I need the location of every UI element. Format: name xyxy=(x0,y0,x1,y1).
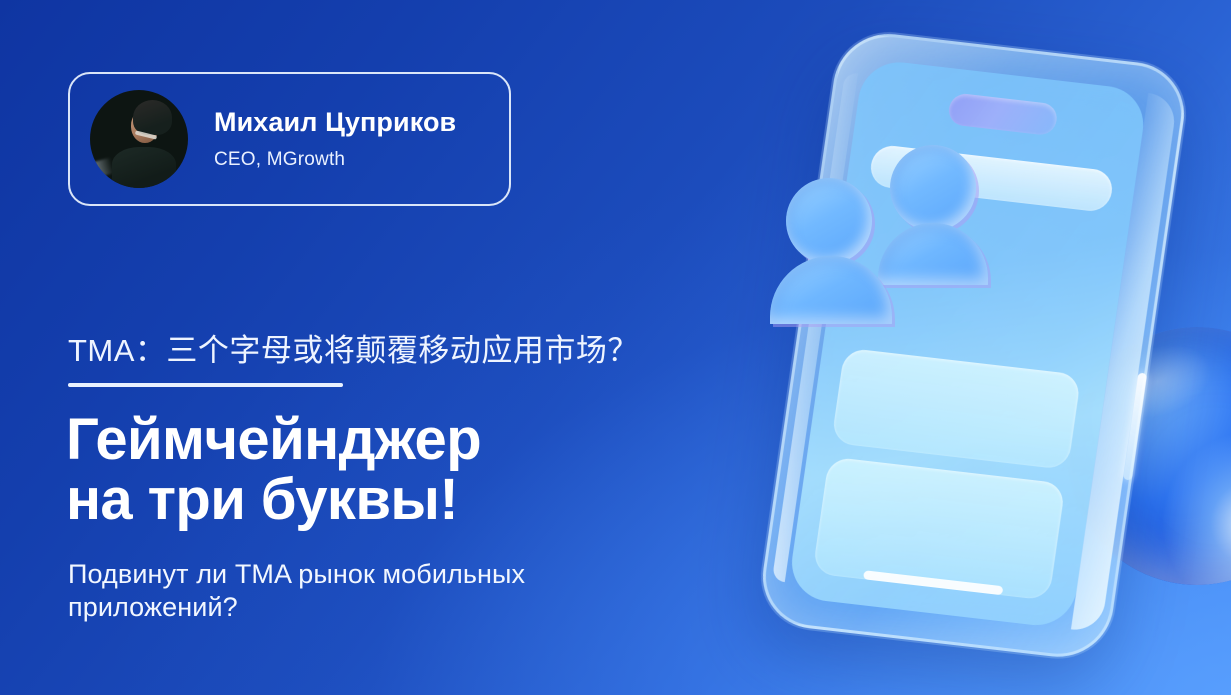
phone-right-bezel xyxy=(1071,93,1178,633)
subtitle-text: Подвинут ли TMA рынок мобильных приложен… xyxy=(68,558,668,624)
phone-screen xyxy=(787,58,1149,629)
person-head xyxy=(786,178,872,264)
content-card-bottom xyxy=(812,456,1065,600)
phone-mockup xyxy=(756,28,1191,662)
speaker-name: Михаил Цуприков xyxy=(214,107,456,138)
page-title: Геймчейнджер на три буквы! xyxy=(66,410,686,529)
speaker-card: Михаил Цуприков CEO, MGrowth xyxy=(68,72,511,206)
speaker-role: CEO, MGrowth xyxy=(214,149,456,171)
promo-slide: Михаил Цуприков CEO, MGrowth TMA：三个字母或将颠… xyxy=(0,0,1231,695)
kicker-text: TMA：三个字母或将颠覆移动应用市场？ xyxy=(68,325,639,370)
person-body xyxy=(770,256,892,324)
sphere-shape xyxy=(1068,327,1231,585)
avatar xyxy=(90,90,188,188)
dynamic-island xyxy=(947,92,1059,136)
phone-left-bezel xyxy=(772,72,858,582)
home-indicator xyxy=(863,570,1003,595)
content-card-top xyxy=(831,348,1081,470)
people-icon xyxy=(770,145,985,320)
speaker-text-group: Михаил Цуприков CEO, MGrowth xyxy=(214,107,456,171)
search-bar-placeholder xyxy=(868,144,1114,213)
avatar-torso xyxy=(112,147,177,188)
avatar-hair xyxy=(133,100,172,135)
divider-rule xyxy=(68,383,343,387)
phone-body xyxy=(756,28,1191,662)
person-body xyxy=(878,223,988,285)
person-head xyxy=(890,145,976,231)
power-button xyxy=(1123,373,1147,481)
